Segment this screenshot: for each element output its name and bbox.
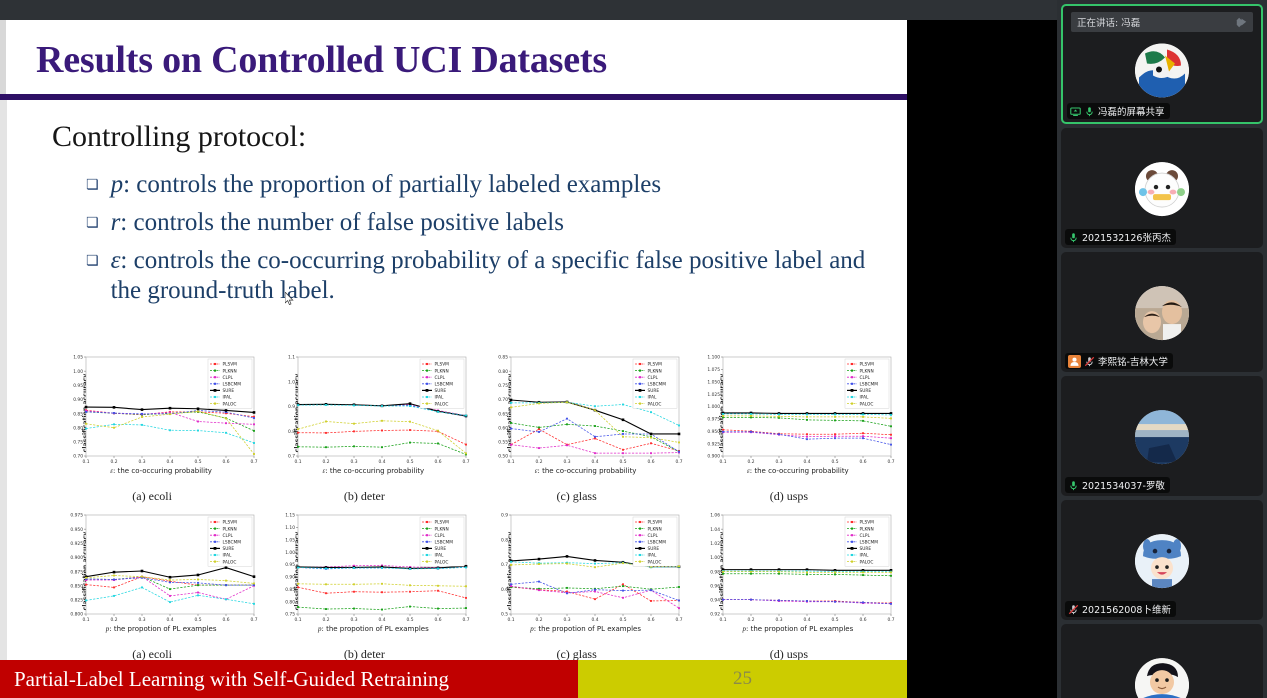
svg-text:0.80: 0.80 <box>73 425 83 431</box>
svg-text:0.6: 0.6 <box>223 617 230 623</box>
svg-text:1.0: 1.0 <box>288 379 295 385</box>
svg-text:PLKNN: PLKNN <box>223 526 237 532</box>
svg-text:0.4: 0.4 <box>167 617 174 623</box>
avatar <box>1135 43 1189 97</box>
chart-caption: (b) deter <box>260 489 468 504</box>
symbol-epsilon: ε <box>111 247 121 274</box>
square-bullet-icon: ❏ <box>86 246 99 276</box>
svg-text:IPAL: IPAL <box>223 395 233 401</box>
legend: PLSVMPLKNNCLPLLSBCMMSUREIPALPALOC <box>420 359 464 408</box>
svg-text:0.75: 0.75 <box>498 383 508 389</box>
svg-text:0.96: 0.96 <box>710 583 720 589</box>
x-axis-label: ε: the co-occuring probability <box>491 467 681 475</box>
svg-text:SURE: SURE <box>223 388 235 394</box>
svg-text:PLKNN: PLKNN <box>647 368 661 374</box>
svg-text:0.6: 0.6 <box>435 617 442 623</box>
chart-caption: (a) ecoli <box>48 489 256 504</box>
svg-text:LSBCMM: LSBCMM <box>859 382 878 388</box>
plot-area: 0.8000.8250.8500.8750.9000.9250.9500.975… <box>62 510 258 634</box>
svg-text:0.90: 0.90 <box>73 397 83 403</box>
svg-text:0.9: 0.9 <box>288 404 295 410</box>
svg-text:LSBCMM: LSBCMM <box>223 382 242 388</box>
svg-text:0.5: 0.5 <box>407 617 414 623</box>
svg-text:0.95: 0.95 <box>73 383 83 389</box>
participant-name: 冯磊的屏幕共享 <box>1098 104 1165 118</box>
svg-text:PALOC: PALOC <box>859 559 873 565</box>
legend: PLSVMPLKNNCLPLLSBCMMSUREIPALPALOC <box>208 359 252 408</box>
svg-text:CLPL: CLPL <box>223 375 234 381</box>
svg-text:0.825: 0.825 <box>70 598 83 604</box>
chart-panel-2: classification accuracy0.70.80.91.01.10.… <box>260 350 468 504</box>
svg-text:0.2: 0.2 <box>747 617 754 623</box>
svg-text:0.875: 0.875 <box>70 569 83 575</box>
participant-namebar: 2021534037-罗敬 <box>1065 477 1170 493</box>
legend: PLSVMPLKNNCLPLLSBCMMSUREIPALPALOC <box>420 517 464 566</box>
svg-text:SURE: SURE <box>859 546 871 552</box>
svg-text:1.15: 1.15 <box>285 513 295 519</box>
svg-text:0.7: 0.7 <box>463 459 470 465</box>
svg-text:0.8: 0.8 <box>288 429 295 435</box>
svg-text:0.60: 0.60 <box>498 425 508 431</box>
svg-text:1.05: 1.05 <box>73 355 83 361</box>
svg-text:PLKNN: PLKNN <box>223 368 237 374</box>
svg-text:LSBCMM: LSBCMM <box>435 540 454 546</box>
svg-text:0.850: 0.850 <box>70 583 83 589</box>
footer-page-bar: 25 <box>578 660 907 698</box>
svg-text:IPAL: IPAL <box>435 553 445 559</box>
svg-text:IPAL: IPAL <box>435 395 445 401</box>
svg-text:0.2: 0.2 <box>535 617 542 623</box>
svg-text:0.3: 0.3 <box>563 617 570 623</box>
title-divider <box>0 94 907 100</box>
svg-text:0.7: 0.7 <box>887 459 894 465</box>
legend: PLSVMPLKNNCLPLLSBCMMSUREIPALPALOC <box>633 359 677 408</box>
list-item: ❏ ε: controls the co-occurring probabili… <box>86 246 886 306</box>
svg-text:0.55: 0.55 <box>498 440 508 446</box>
chart-panel-5: classification accuracy0.8000.8250.8500.… <box>48 508 256 662</box>
svg-text:0.75: 0.75 <box>73 440 83 446</box>
sky-landscape-photo-avatar-image <box>1135 410 1189 464</box>
symbol-p: p <box>111 171 124 198</box>
svg-text:0.4: 0.4 <box>591 617 598 623</box>
svg-text:SURE: SURE <box>859 388 871 394</box>
svg-text:PLSVM: PLSVM <box>223 520 238 526</box>
svg-text:IPAL: IPAL <box>859 395 869 401</box>
svg-text:IPAL: IPAL <box>223 553 233 559</box>
svg-text:0.85: 0.85 <box>498 355 508 361</box>
chart-panel-7: classification accuracy0.50.60.70.80.90.… <box>473 508 681 662</box>
svg-text:CLPL: CLPL <box>435 533 446 539</box>
svg-text:0.1: 0.1 <box>507 459 514 465</box>
svg-text:0.75: 0.75 <box>285 612 295 618</box>
legend: PLSVMPLKNNCLPLLSBCMMSUREIPALPALOC <box>208 517 252 566</box>
svg-text:0.7: 0.7 <box>675 459 682 465</box>
svg-text:PALOC: PALOC <box>223 401 237 407</box>
avatar <box>1135 534 1189 588</box>
svg-text:0.5: 0.5 <box>619 617 626 623</box>
x-axis-label: p: the propotion of PL examples <box>278 625 468 633</box>
screen-share-icon <box>1070 106 1081 117</box>
svg-text:0.4: 0.4 <box>803 459 810 465</box>
svg-text:0.6: 0.6 <box>647 459 654 465</box>
svg-text:0.1: 0.1 <box>295 459 302 465</box>
chart-panel-6: classification accuracy0.750.800.850.900… <box>260 508 468 662</box>
svg-text:CLPL: CLPL <box>647 533 658 539</box>
svg-text:0.900: 0.900 <box>707 454 720 460</box>
svg-text:IPAL: IPAL <box>647 553 657 559</box>
figure-grid: classification accuracy0.700.750.800.850… <box>48 350 893 665</box>
chart-panel-4: classification accuracy0.9000.9250.9500.… <box>685 350 893 504</box>
svg-text:1.1: 1.1 <box>288 355 295 361</box>
svg-text:0.2: 0.2 <box>323 617 330 623</box>
svg-text:SURE: SURE <box>223 546 235 552</box>
svg-text:1.075: 1.075 <box>707 367 720 373</box>
svg-text:0.95: 0.95 <box>285 562 295 568</box>
svg-text:0.6: 0.6 <box>859 617 866 623</box>
svg-text:1.100: 1.100 <box>707 355 720 361</box>
svg-text:0.1: 0.1 <box>719 617 726 623</box>
svg-text:PALOC: PALOC <box>859 401 873 407</box>
legend: PLSVMPLKNNCLPLLSBCMMSUREIPALPALOC <box>845 359 889 408</box>
participant-name: 2021534037-罗敬 <box>1082 478 1165 492</box>
participant-name: 李熙铭-吉林大学 <box>1098 354 1168 368</box>
host-person-icon <box>1069 356 1080 367</box>
svg-text:0.98: 0.98 <box>710 569 720 575</box>
svg-text:0.1: 0.1 <box>507 617 514 623</box>
svg-text:PLSVM: PLSVM <box>435 520 450 526</box>
symbol-r: r <box>111 209 121 236</box>
svg-text:LSBCMM: LSBCMM <box>859 540 878 546</box>
chart-caption: (d) usps <box>685 489 893 504</box>
svg-text:0.65: 0.65 <box>498 411 508 417</box>
x-axis-label: p: the propotion of PL examples <box>491 625 681 633</box>
plot-area: 0.70.80.91.01.10.10.20.30.40.50.60.7PLSV… <box>274 352 470 476</box>
tile-controls[interactable] <box>1236 17 1247 28</box>
bullet-content: ε: controls the co-occurring probability… <box>111 246 886 306</box>
svg-text:0.90: 0.90 <box>285 575 295 581</box>
svg-text:SURE: SURE <box>435 388 447 394</box>
square-bullet-icon: ❏ <box>86 208 99 238</box>
plot-area: 0.9000.9250.9500.9751.0001.0251.0501.075… <box>699 352 895 476</box>
svg-text:0.92: 0.92 <box>710 612 720 618</box>
svg-text:1.00: 1.00 <box>285 550 295 556</box>
svg-text:0.9: 0.9 <box>501 513 508 519</box>
svg-text:0.4: 0.4 <box>379 617 386 623</box>
svg-text:1.050: 1.050 <box>707 379 720 385</box>
svg-text:0.3: 0.3 <box>563 459 570 465</box>
footer-title: Partial-Label Learning with Self-Guided … <box>14 667 449 692</box>
svg-text:0.3: 0.3 <box>351 617 358 623</box>
microphone-muted-icon <box>1068 604 1079 615</box>
participant-name: 2021562008卜维新 <box>1082 602 1171 616</box>
svg-text:0.7: 0.7 <box>251 617 258 623</box>
svg-text:PLKNN: PLKNN <box>647 526 661 532</box>
svg-text:PLSVM: PLSVM <box>647 520 662 526</box>
x-axis-label: ε: the co-occuring probability <box>703 467 893 475</box>
svg-text:0.70: 0.70 <box>73 454 83 460</box>
svg-text:0.80: 0.80 <box>285 599 295 605</box>
svg-text:0.3: 0.3 <box>775 617 782 623</box>
svg-text:1.10: 1.10 <box>285 525 295 531</box>
chart-box: classification accuracy0.8000.8250.8500.… <box>48 508 256 634</box>
svg-text:0.2: 0.2 <box>323 459 330 465</box>
svg-text:0.6: 0.6 <box>501 587 508 593</box>
speaking-label: 正在讲话: 冯磊 <box>1077 15 1140 29</box>
svg-text:LSBCMM: LSBCMM <box>647 382 666 388</box>
bullet-list: ❏ p: controls the proportion of partiall… <box>86 170 886 314</box>
svg-text:0.5: 0.5 <box>195 617 202 623</box>
svg-text:PALOC: PALOC <box>435 401 449 407</box>
page-title: Results on Controlled UCI Datasets <box>36 38 607 82</box>
bullet-text-1: : controls the number of false positive … <box>120 209 564 236</box>
svg-text:PLSVM: PLSVM <box>859 362 874 368</box>
bullet-content: p: controls the proportion of partially … <box>111 170 662 200</box>
svg-text:0.6: 0.6 <box>859 459 866 465</box>
avatar <box>1135 162 1189 216</box>
x-axis-label: ε: the co-occuring probability <box>66 467 256 475</box>
x-axis-label: p: the propotion of PL examples <box>703 625 893 633</box>
svg-text:0.70: 0.70 <box>498 397 508 403</box>
svg-text:0.1: 0.1 <box>719 459 726 465</box>
svg-text:PLSVM: PLSVM <box>223 362 238 368</box>
svg-text:PALOC: PALOC <box>647 559 661 565</box>
svg-text:0.3: 0.3 <box>139 459 146 465</box>
legend: PLSVMPLKNNCLPLLSBCMMSUREIPALPALOC <box>633 517 677 566</box>
svg-text:1.05: 1.05 <box>285 537 295 543</box>
bullet-text-2: : controls the co-occurring probability … <box>111 247 866 304</box>
svg-text:PLKNN: PLKNN <box>435 368 449 374</box>
svg-text:1.025: 1.025 <box>707 392 720 398</box>
participant-namebar: 2021532126张丙杰 <box>1065 229 1176 245</box>
svg-text:0.7: 0.7 <box>887 617 894 623</box>
svg-text:1.00: 1.00 <box>73 369 83 375</box>
svg-text:0.800: 0.800 <box>70 612 83 618</box>
chart-box: classification accuracy0.920.940.960.981… <box>685 508 893 634</box>
svg-text:1.02: 1.02 <box>710 541 720 547</box>
svg-text:CLPL: CLPL <box>859 533 870 539</box>
x-axis-label: ε: the co-occuring probability <box>278 467 468 475</box>
legend: PLSVMPLKNNCLPLLSBCMMSUREIPALPALOC <box>845 517 889 566</box>
svg-text:LSBCMM: LSBCMM <box>435 382 454 388</box>
svg-text:0.5: 0.5 <box>619 459 626 465</box>
host-badge <box>1068 355 1081 368</box>
svg-text:IPAL: IPAL <box>859 553 869 559</box>
chart-box: classification accuracy0.750.800.850.900… <box>260 508 468 634</box>
svg-text:0.85: 0.85 <box>285 587 295 593</box>
participant-tile[interactable]: 2021534037-罗敬 <box>1061 376 1263 496</box>
bullet-text-0: : controls the proportion of partially l… <box>123 171 661 198</box>
svg-text:LSBCMM: LSBCMM <box>647 540 666 546</box>
slide-title-band: Results on Controlled UCI Datasets <box>0 20 907 94</box>
meeting-window: Results on Controlled UCI Datasets Contr… <box>0 0 1267 698</box>
list-item: ❏ p: controls the proportion of partiall… <box>86 170 886 200</box>
svg-text:CLPL: CLPL <box>435 375 446 381</box>
share-top-strip <box>0 0 1057 20</box>
svg-text:0.7: 0.7 <box>251 459 258 465</box>
svg-text:CLPL: CLPL <box>647 375 658 381</box>
chart-caption: (c) glass <box>473 489 681 504</box>
square-bullet-icon: ❏ <box>86 170 99 200</box>
page-number: 25 <box>578 668 907 690</box>
superman-cartoon-avatar-image <box>1135 658 1189 698</box>
svg-text:LSBCMM: LSBCMM <box>223 540 242 546</box>
participant-namebar: 2021562008卜维新 <box>1065 601 1176 617</box>
svg-text:SURE: SURE <box>647 388 659 394</box>
svg-text:SURE: SURE <box>647 546 659 552</box>
body-heading: Controlling protocol: <box>52 120 306 154</box>
svg-text:0.3: 0.3 <box>139 617 146 623</box>
svg-text:0.50: 0.50 <box>498 454 508 460</box>
svg-text:0.2: 0.2 <box>111 459 118 465</box>
svg-text:0.85: 0.85 <box>73 411 83 417</box>
stitch-hat-cartoon-avatar-image <box>1135 534 1189 588</box>
svg-text:0.6: 0.6 <box>647 617 654 623</box>
plot-area: 0.750.800.850.900.951.001.051.101.150.10… <box>274 510 470 634</box>
svg-text:0.80: 0.80 <box>498 369 508 375</box>
chart-panel-8: classification accuracy0.920.940.960.981… <box>685 508 893 662</box>
chart-box: classification accuracy0.9000.9250.9500.… <box>685 350 893 476</box>
chart-box: classification accuracy0.500.550.600.650… <box>473 350 681 476</box>
plot-area: 0.920.940.960.981.001.021.041.060.10.20.… <box>699 510 895 634</box>
svg-text:PLKNN: PLKNN <box>859 368 873 374</box>
svg-text:1.000: 1.000 <box>707 404 720 410</box>
plot-area: 0.700.750.800.850.900.951.001.050.10.20.… <box>62 352 258 476</box>
svg-text:0.7: 0.7 <box>463 617 470 623</box>
svg-text:0.3: 0.3 <box>351 459 358 465</box>
presentation-slide: Results on Controlled UCI Datasets Contr… <box>0 20 907 698</box>
svg-text:0.8: 0.8 <box>501 537 508 543</box>
chart-box: classification accuracy0.700.750.800.850… <box>48 350 256 476</box>
bullet-content: r: controls the number of false positive… <box>111 208 564 238</box>
svg-text:0.5: 0.5 <box>501 612 508 618</box>
two-children-photo-avatar-image <box>1135 286 1189 340</box>
participant-tile[interactable] <box>1061 624 1263 698</box>
svg-text:0.975: 0.975 <box>707 417 720 423</box>
svg-text:0.975: 0.975 <box>70 513 83 519</box>
svg-text:PLSVM: PLSVM <box>859 520 874 526</box>
plot-area: 0.500.550.600.650.700.750.800.850.10.20.… <box>487 352 683 476</box>
svg-text:IPAL: IPAL <box>647 395 657 401</box>
participant-sidebar[interactable]: 正在讲话: 冯磊冯磊的屏幕共享2021532126张丙杰李熙铭-吉林大学2021… <box>1057 0 1267 698</box>
microphone-muted-icon <box>1084 356 1095 367</box>
svg-text:0.2: 0.2 <box>747 459 754 465</box>
svg-text:0.1: 0.1 <box>83 459 90 465</box>
svg-text:PALOC: PALOC <box>223 559 237 565</box>
svg-text:PLKNN: PLKNN <box>435 526 449 532</box>
svg-text:CLPL: CLPL <box>223 533 234 539</box>
participant-tile[interactable]: 李熙铭-吉林大学 <box>1061 252 1263 372</box>
svg-text:PLSVM: PLSVM <box>435 362 450 368</box>
video-arrows-icon <box>1236 17 1247 28</box>
panda-cartoon-avatar-image <box>1135 162 1189 216</box>
svg-text:1.00: 1.00 <box>710 555 720 561</box>
chart-box: classification accuracy0.50.60.70.80.90.… <box>473 508 681 634</box>
svg-text:SURE: SURE <box>435 546 447 552</box>
svg-text:0.1: 0.1 <box>295 617 302 623</box>
svg-text:0.94: 0.94 <box>710 598 720 604</box>
participant-tile[interactable]: 2021562008卜维新 <box>1061 500 1263 620</box>
svg-text:PLKNN: PLKNN <box>859 526 873 532</box>
x-axis-label: p: the propotion of PL examples <box>66 625 256 633</box>
footer-title-bar: Partial-Label Learning with Self-Guided … <box>0 660 578 698</box>
svg-text:0.2: 0.2 <box>111 617 118 623</box>
svg-text:0.5: 0.5 <box>195 459 202 465</box>
participant-tile[interactable]: 正在讲话: 冯磊冯磊的屏幕共享 <box>1061 4 1263 124</box>
svg-text:1.04: 1.04 <box>710 527 720 533</box>
chart-panel-3: classification accuracy0.500.550.600.650… <box>473 350 681 504</box>
svg-text:1.06: 1.06 <box>710 513 720 519</box>
svg-text:0.5: 0.5 <box>831 459 838 465</box>
slide-left-edge <box>0 20 7 698</box>
svg-text:0.4: 0.4 <box>591 459 598 465</box>
svg-text:0.950: 0.950 <box>707 429 720 435</box>
svg-text:PALOC: PALOC <box>435 559 449 565</box>
svg-text:0.925: 0.925 <box>707 441 720 447</box>
microphone-icon <box>1068 232 1079 243</box>
anime-character-avatar-image <box>1135 43 1189 97</box>
shared-screen-region: Results on Controlled UCI Datasets Contr… <box>0 0 1057 698</box>
avatar <box>1135 658 1189 698</box>
svg-text:0.5: 0.5 <box>407 459 414 465</box>
svg-text:0.925: 0.925 <box>70 541 83 547</box>
svg-text:0.900: 0.900 <box>70 555 83 561</box>
svg-text:0.4: 0.4 <box>167 459 174 465</box>
svg-text:PLSVM: PLSVM <box>647 362 662 368</box>
participant-name: 2021532126张丙杰 <box>1082 230 1171 244</box>
svg-text:CLPL: CLPL <box>859 375 870 381</box>
svg-text:0.4: 0.4 <box>803 617 810 623</box>
microphone-icon <box>1068 480 1079 491</box>
svg-text:0.4: 0.4 <box>379 459 386 465</box>
plot-area: 0.50.60.70.80.90.10.20.30.40.50.60.7PLSV… <box>487 510 683 634</box>
svg-text:0.5: 0.5 <box>831 617 838 623</box>
speaking-status-bar: 正在讲话: 冯磊 <box>1071 12 1253 32</box>
svg-text:0.6: 0.6 <box>223 459 230 465</box>
chart-panel-1: classification accuracy0.700.750.800.850… <box>48 350 256 504</box>
mouse-cursor-icon <box>285 292 295 306</box>
svg-text:0.7: 0.7 <box>675 617 682 623</box>
participant-tile[interactable]: 2021532126张丙杰 <box>1061 128 1263 248</box>
svg-text:PALOC: PALOC <box>647 401 661 407</box>
svg-text:0.3: 0.3 <box>775 459 782 465</box>
chart-box: classification accuracy0.70.80.91.01.10.… <box>260 350 468 476</box>
svg-text:0.2: 0.2 <box>535 459 542 465</box>
participant-namebar: 李熙铭-吉林大学 <box>1065 353 1173 369</box>
svg-text:0.950: 0.950 <box>70 527 83 533</box>
svg-text:0.6: 0.6 <box>435 459 442 465</box>
microphone-icon <box>1084 106 1095 117</box>
list-item: ❏ r: controls the number of false positi… <box>86 208 886 238</box>
svg-text:0.1: 0.1 <box>83 617 90 623</box>
avatar <box>1135 286 1189 340</box>
svg-text:0.7: 0.7 <box>501 562 508 568</box>
participant-namebar: 冯磊的屏幕共享 <box>1067 103 1170 119</box>
avatar <box>1135 410 1189 464</box>
svg-text:0.7: 0.7 <box>288 454 295 460</box>
